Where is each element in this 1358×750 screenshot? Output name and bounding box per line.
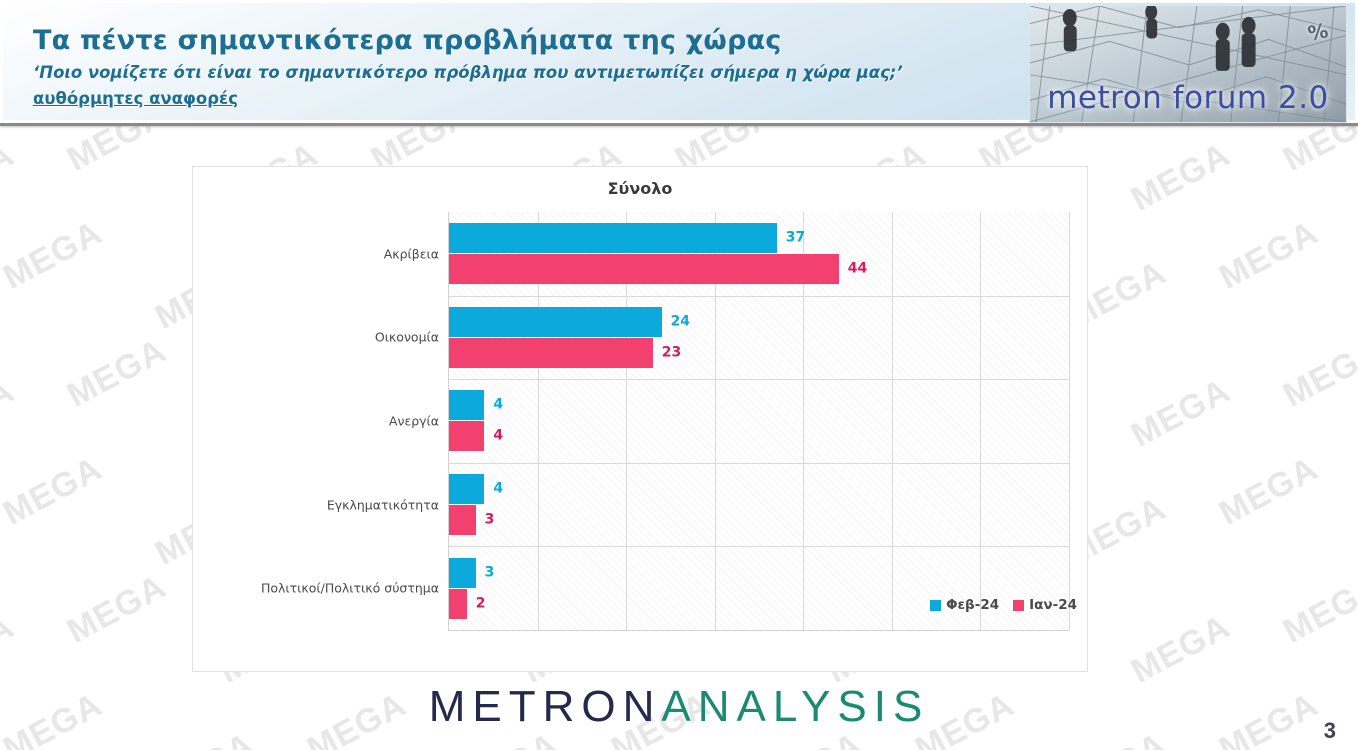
chart-category-label: Εγκληματικότητα [327, 497, 439, 512]
brand-logo-text: metron forum 2.0 [1030, 80, 1346, 116]
chart-bar-row: 4 [449, 474, 1069, 504]
chart-bar [449, 338, 653, 368]
chart-category-label: Οικονομία [375, 330, 439, 345]
watermark-text: MEGA [1277, 567, 1358, 651]
chart-plot-area: Ακρίβεια3744Οικονομία2423Ανεργία44Εγκλημ… [448, 212, 1069, 631]
chart-bar [449, 421, 484, 451]
chart-bar-row: 24 [449, 307, 1069, 337]
chart-category-group: Ανεργία44 [449, 379, 1069, 463]
chart-bar-row: 23 [449, 338, 1069, 368]
brand-logo: % metron forum 2.0 [1029, 5, 1347, 123]
chart-legend: Φεβ-24Ιαν-24 [930, 597, 1077, 613]
legend-label: Ιαν-24 [1029, 597, 1077, 613]
chart-data-label: 3 [485, 564, 495, 580]
watermark-text: MEGA [1213, 449, 1325, 533]
chart-bar [449, 589, 467, 619]
chart-bar [449, 307, 662, 337]
chart-category-label: Ανεργία [389, 413, 439, 428]
watermark-text: MEGA [1125, 607, 1237, 691]
chart-category-group: Πολιτικοί/Πολιτικό σύστημα32 [449, 546, 1069, 630]
chart-bar [449, 390, 484, 420]
chart-legend-entry[interactable]: Φεβ-24 [930, 597, 999, 613]
watermark-text: MEGA [1277, 331, 1358, 415]
watermark-text: MEGA [61, 331, 173, 415]
chart-data-label: 2 [476, 595, 486, 611]
chart-category-label: Ακρίβεια [384, 246, 439, 261]
chart-data-label: 4 [493, 397, 503, 413]
page-number: 3 [1324, 718, 1336, 744]
company-logo: METRONΑΝΑLYSIS [0, 682, 1358, 732]
chart-bar-row: 44 [449, 254, 1069, 284]
company-logo-analysis: ΑΝΑLYSIS [661, 682, 929, 731]
watermark-text: MEGA [1125, 135, 1237, 219]
chart-bar-row: 3 [449, 505, 1069, 535]
chart-data-label: 23 [662, 345, 681, 361]
legend-swatch-icon [930, 600, 941, 611]
chart-bar [449, 254, 839, 284]
watermark-text: MEGA [61, 567, 173, 651]
watermark-text: MEGA [0, 135, 21, 219]
chart-bar-row: 4 [449, 421, 1069, 451]
chart-bar-row: 3 [449, 558, 1069, 588]
chart-title: Σύνολο [193, 179, 1087, 198]
chart-container: Σύνολο Ακρίβεια3744Οικονομία2423Ανεργία4… [192, 166, 1088, 672]
chart-bar [449, 558, 476, 588]
legend-swatch-icon [1013, 600, 1024, 611]
chart-bar [449, 474, 484, 504]
chart-data-label: 4 [493, 481, 503, 497]
page-title: Τα πέντε σημαντικότερα προβλήματα της χώ… [33, 25, 782, 56]
watermark-text: MEGA [0, 449, 109, 533]
chart-category-separator [449, 546, 1069, 547]
watermark-text: MEGA [0, 607, 21, 691]
chart-bar [449, 223, 777, 253]
header-banner: Τα πέντε σημαντικότερα προβλήματα της χώ… [0, 0, 1358, 123]
chart-data-label: 44 [848, 261, 867, 277]
chart-legend-entry[interactable]: Ιαν-24 [1013, 597, 1077, 613]
chart-data-label: 3 [485, 512, 495, 528]
page-subtitle: ‘Ποιο νομίζετε ότι είναι το σημαντικότερ… [33, 63, 903, 82]
watermark-text: MEGA [1125, 371, 1237, 455]
company-logo-metron: METRON [429, 682, 662, 731]
chart-category-separator [449, 296, 1069, 297]
chart-bar-row: 4 [449, 390, 1069, 420]
chart-category-separator [449, 379, 1069, 380]
chart-category-group: Εγκληματικότητα43 [449, 463, 1069, 547]
chart-data-label: 4 [493, 428, 503, 444]
watermark-text: MEGA [1213, 213, 1325, 297]
watermark-text: MEGA [0, 213, 109, 297]
page-note: αυθόρμητες αναφορές [33, 89, 238, 108]
chart-bar-row: 37 [449, 223, 1069, 253]
legend-label: Φεβ-24 [946, 597, 999, 613]
chart-data-label: 24 [671, 314, 690, 330]
chart-category-separator [449, 463, 1069, 464]
watermark-text: MEGA [0, 371, 21, 455]
chart-category-group: Οικονομία2423 [449, 296, 1069, 380]
chart-bar [449, 505, 476, 535]
chart-gridline [1069, 212, 1070, 630]
chart-data-label: 37 [786, 230, 805, 246]
chart-category-label: Πολιτικοί/Πολιτικό σύστημα [261, 581, 439, 596]
chart-category-group: Ακρίβεια3744 [449, 212, 1069, 296]
